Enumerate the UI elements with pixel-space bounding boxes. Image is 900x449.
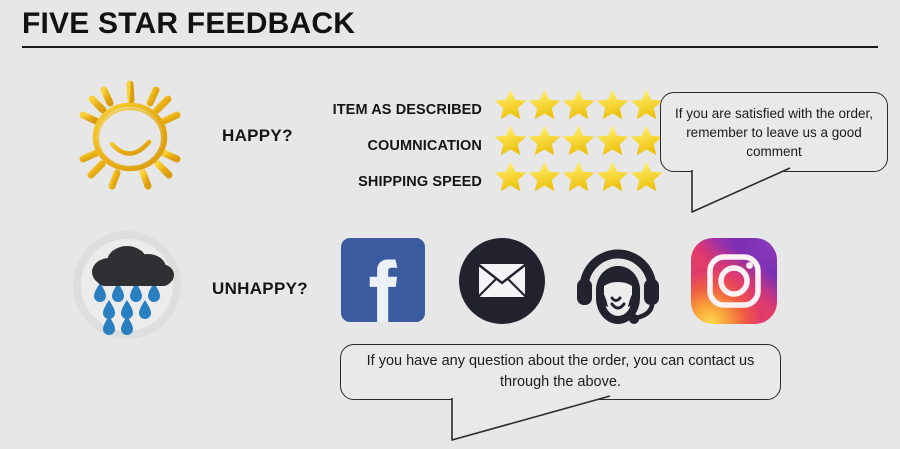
social-icons-row — [341, 238, 781, 330]
criteria-label-shipping-speed: SHIPPING SPEED — [300, 164, 482, 200]
star-ratings — [493, 86, 663, 194]
rain-cloud-icon — [63, 228, 191, 342]
title-divider — [22, 46, 878, 48]
criteria-label-coumnication: COUMNICATION — [300, 128, 482, 164]
facebook-icon[interactable] — [341, 238, 429, 326]
email-icon[interactable] — [459, 238, 547, 326]
feedback-banner: FIVE STAR FEEDBACK — [0, 0, 900, 449]
star-row-shipping-speed — [493, 158, 663, 194]
speech-bubble-positive: If you are satisfied with the order, rem… — [660, 92, 888, 172]
speech-bubble-support: If you have any question about the order… — [340, 344, 781, 400]
instagram-icon[interactable] — [691, 238, 779, 326]
speech-bubble-support-tail — [450, 396, 620, 444]
star-row-item-as-described — [493, 86, 663, 122]
speech-bubble-support-text: If you have any question about the order… — [341, 351, 780, 393]
speech-bubble-positive-tail — [690, 168, 800, 214]
smiling-sun-icon — [60, 78, 200, 196]
customer-support-icon[interactable] — [574, 238, 662, 326]
speech-bubble-positive-text: If you are satisfied with the order, rem… — [661, 104, 887, 161]
mood-label-happy: HAPPY? — [222, 126, 293, 146]
criteria-label-item-as-described: ITEM AS DESCRIBED — [300, 92, 482, 128]
rating-criteria-list: ITEM AS DESCRIBED COUMNICATION SHIPPING … — [300, 92, 482, 200]
page-title: FIVE STAR FEEDBACK — [22, 5, 355, 43]
star-row-coumnication — [493, 122, 663, 158]
mood-label-unhappy: UNHAPPY? — [212, 279, 308, 299]
